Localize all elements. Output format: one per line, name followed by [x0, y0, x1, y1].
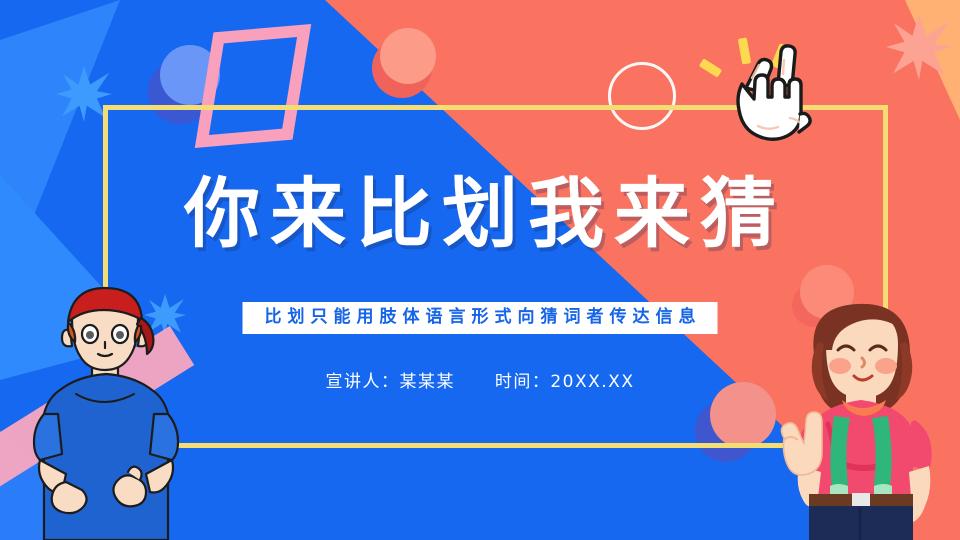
presenter-label: 宣讲人：某某某 — [326, 372, 456, 392]
page-title: 你来比划我来猜 — [0, 176, 960, 252]
circle-outline-icon — [608, 62, 676, 130]
presentation-slide: 你来比划我来猜 比划只能用肢体语言形式向猜词者传达信息 宣讲人：某某某 时间：2… — [0, 0, 960, 540]
presentation-meta: 宣讲人：某某某 时间：20XX.XX — [0, 367, 960, 392]
decor-circle-light-coral — [380, 28, 436, 84]
date-label: 时间：20XX.XX — [495, 372, 635, 392]
girl-character-illustration — [768, 288, 960, 540]
victory-hand-icon — [712, 22, 852, 162]
subtitle-text: 比划只能用肢体语言形式向猜词者传达信息 — [259, 307, 702, 328]
boy-character-illustration — [10, 282, 200, 540]
parallelogram-outline-icon — [195, 24, 311, 148]
subtitle-banner: 比划只能用肢体语言形式向猜词者传达信息 — [243, 302, 718, 334]
